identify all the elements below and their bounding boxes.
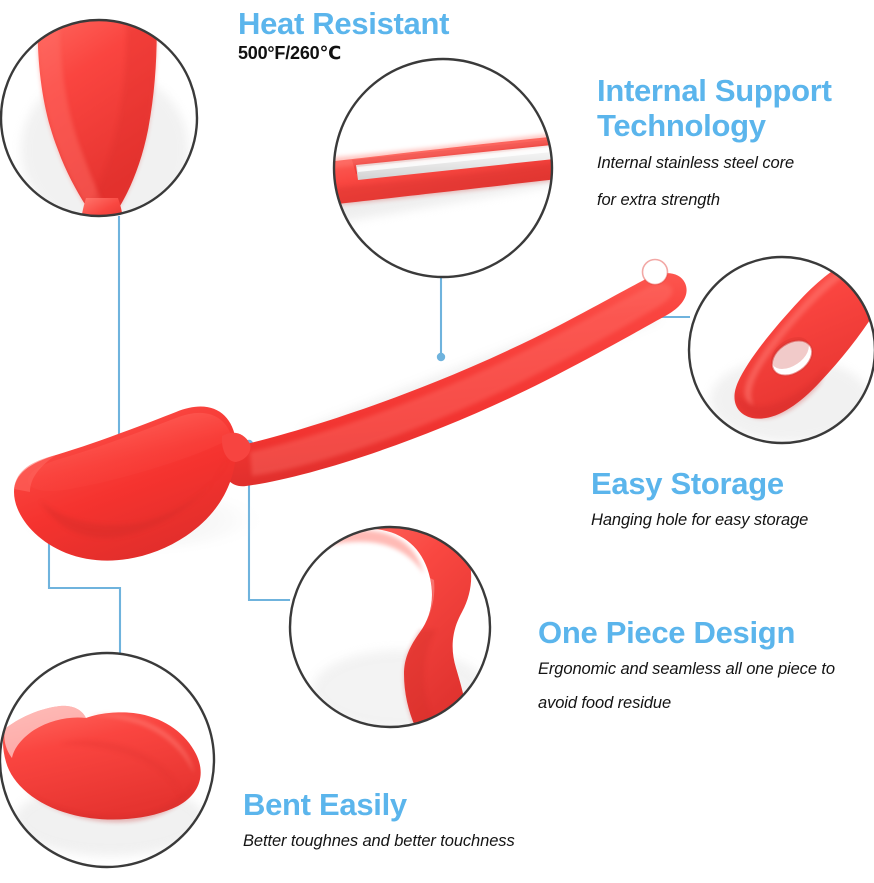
feature-heat-resistant: Heat Resistant 500°F/260℃ xyxy=(238,6,449,64)
callout-easy-storage xyxy=(687,250,874,447)
feature-internal-support: Internal Support Technology Internal sta… xyxy=(597,74,874,216)
callout-one-piece xyxy=(288,506,492,744)
feature-title-heat-resistant: Heat Resistant xyxy=(238,6,449,42)
feature-subtitle-easy-storage: Hanging hole for easy storage xyxy=(591,504,808,536)
anchor-dot-internal-support xyxy=(437,353,445,361)
feature-title-one-piece-design: One Piece Design xyxy=(538,615,868,651)
feature-bent-easily: Bent Easily Better toughnes and better t… xyxy=(243,787,515,857)
feature-subtitle-one-piece-line1: Ergonomic and seamless all one piece to xyxy=(538,653,868,685)
feature-title-internal-support-line1: Internal Support xyxy=(597,74,874,109)
callout-internal-support xyxy=(314,55,582,281)
feature-subtitle-internal-support-line2: for extra strength xyxy=(597,184,874,216)
callout-heat-resistant xyxy=(1,6,197,232)
infographic-page: Heat Resistant 500°F/260℃ Internal Suppo… xyxy=(0,0,874,883)
feature-subtitle-internal-support-line1: Internal stainless steel core xyxy=(597,147,874,179)
callout-bent-easily xyxy=(0,653,214,869)
feature-title-easy-storage: Easy Storage xyxy=(591,466,808,502)
feature-one-piece-design: One Piece Design Ergonomic and seamless … xyxy=(538,615,868,719)
feature-title-internal-support-line2: Technology xyxy=(597,109,874,144)
feature-easy-storage: Easy Storage Hanging hole for easy stora… xyxy=(591,466,808,536)
feature-subtitle-one-piece-line2: avoid food residue xyxy=(538,687,868,719)
feature-temperature-heat-resistant: 500°F/260℃ xyxy=(238,43,449,64)
feature-title-bent-easily: Bent Easily xyxy=(243,787,515,823)
main-spatula xyxy=(10,260,687,561)
feature-subtitle-bent-easily: Better toughnes and better touchness xyxy=(243,825,515,857)
